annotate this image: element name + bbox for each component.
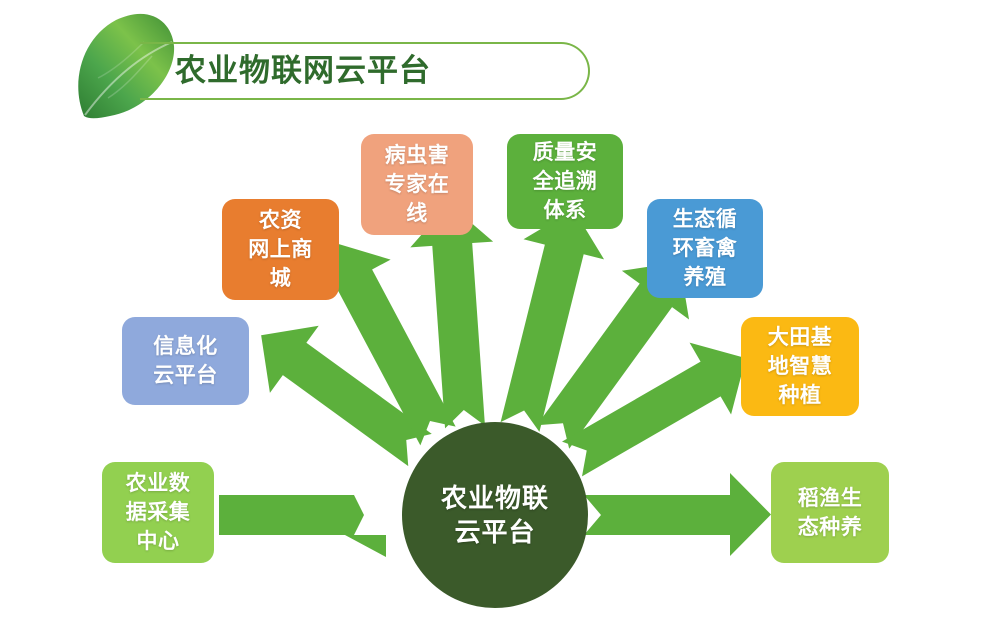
node-pest-expert-label: 病虫害 专家在 线 — [385, 141, 450, 228]
node-quality-trace-label: 质量安 全追溯 体系 — [533, 138, 598, 225]
node-smart-farming[interactable]: 大田基 地智慧 种植 — [741, 317, 859, 416]
arrow-to-rice-fish — [584, 473, 771, 556]
node-eco-livestock[interactable]: 生态循 环畜禽 养殖 — [647, 199, 763, 298]
node-line: 大田基 — [768, 323, 833, 352]
node-line: 信息化 — [153, 332, 218, 361]
node-line: 线 — [385, 199, 450, 228]
node-line: 网上商 — [248, 235, 313, 264]
node-line: 质量安 — [533, 138, 598, 167]
node-line: 云平台 — [153, 361, 218, 390]
arrow-to-data-center — [219, 495, 386, 557]
node-rice-fish[interactable]: 稻渔生 态种养 — [771, 462, 889, 563]
node-line: 体系 — [533, 196, 598, 225]
node-line: 农业数 — [126, 469, 191, 498]
node-quality-trace[interactable]: 质量安 全追溯 体系 — [507, 134, 623, 229]
node-line: 全追溯 — [533, 167, 598, 196]
node-info-cloud[interactable]: 信息化 云平台 — [122, 317, 249, 405]
node-line: 中心 — [126, 527, 191, 556]
node-rice-fish-label: 稻渔生 态种养 — [798, 484, 863, 542]
node-agri-ecommerce-label: 农资 网上商 城 — [248, 206, 313, 293]
node-line: 据采集 — [126, 498, 191, 527]
node-line: 态种养 — [798, 513, 863, 542]
diagram-canvas: 农业物联网云平台 — [0, 0, 994, 634]
node-data-center[interactable]: 农业数 据采集 中心 — [102, 462, 214, 563]
node-agri-ecommerce[interactable]: 农资 网上商 城 — [222, 199, 339, 300]
node-line: 专家在 — [385, 170, 450, 199]
node-line: 环畜禽 — [673, 234, 738, 263]
node-data-center-label: 农业数 据采集 中心 — [126, 469, 191, 556]
node-eco-livestock-label: 生态循 环畜禽 养殖 — [673, 205, 738, 292]
node-line: 生态循 — [673, 205, 738, 234]
node-smart-farming-label: 大田基 地智慧 种植 — [768, 323, 833, 410]
node-pest-expert[interactable]: 病虫害 专家在 线 — [361, 134, 473, 235]
node-line: 养殖 — [673, 263, 738, 292]
node-line: 地智慧 — [768, 352, 833, 381]
node-line: 城 — [248, 264, 313, 293]
node-line: 农资 — [248, 206, 313, 235]
node-line: 稻渔生 — [798, 484, 863, 513]
central-hub[interactable]: 农业物联 云平台 — [402, 422, 588, 608]
hub-line-2: 云平台 — [441, 515, 549, 549]
hub-line-1: 农业物联 — [441, 481, 549, 515]
node-line: 种植 — [768, 381, 833, 410]
node-info-cloud-label: 信息化 云平台 — [153, 332, 218, 390]
node-line: 病虫害 — [385, 141, 450, 170]
central-hub-label: 农业物联 云平台 — [441, 481, 549, 549]
